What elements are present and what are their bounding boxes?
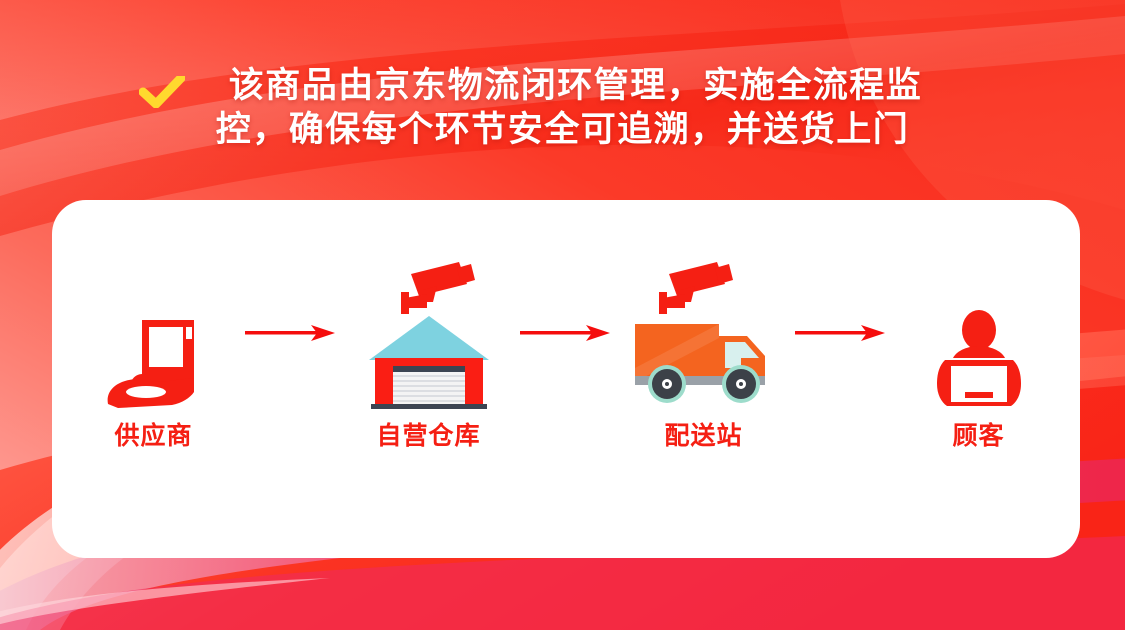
- cctv-camera-icon: [401, 262, 475, 314]
- warehouse-icon: [367, 258, 491, 410]
- hand-holding-box-icon: [102, 318, 206, 410]
- flow-node-supplier: 供应商: [69, 255, 239, 449]
- arrow-right-icon: [520, 322, 612, 344]
- headline-line-2: 控，确保每个环节安全可追溯，并送货上门: [0, 108, 1125, 152]
- flow-node-delivery-station: 配送站: [619, 255, 789, 449]
- flow-node-warehouse-label: 自营仓库: [376, 424, 480, 449]
- flow-arrow-3: [789, 255, 894, 410]
- flow-node-delivery-station-art: [629, 255, 779, 410]
- flow-node-customer-art: [931, 255, 1027, 410]
- flow-arrow-1: [239, 255, 344, 410]
- promo-banner: 该商品由京东物流闭环管理，实施全流程监 控，确保每个环节安全可追溯，并送货上门: [0, 0, 1125, 630]
- headline-block: 该商品由京东物流闭环管理，实施全流程监 控，确保每个环节安全可追溯，并送货上门: [0, 64, 1125, 152]
- headline-text-2: 控，确保每个环节安全可追溯，并送货上门: [216, 110, 910, 149]
- flow-node-delivery-station-label: 配送站: [664, 424, 742, 449]
- arrow-right-icon: [795, 322, 887, 344]
- flow-arrow-2: [514, 255, 619, 410]
- headline-line-1: 该商品由京东物流闭环管理，实施全流程监: [0, 64, 1125, 108]
- flow-node-supplier-art: [102, 255, 206, 410]
- cctv-camera-icon: [659, 262, 733, 314]
- headline-text-1: 该商品由京东物流闭环管理，实施全流程监: [229, 66, 923, 105]
- flow-node-customer: 顾客: [894, 255, 1064, 449]
- customer-with-package-icon: [931, 308, 1027, 410]
- arrow-right-icon: [245, 322, 337, 344]
- flow-node-warehouse-art: [367, 255, 491, 410]
- flow-node-customer-label: 顾客: [952, 424, 1004, 449]
- logistics-flow-diagram: 供应商: [52, 200, 1080, 558]
- flow-node-supplier-label: 供应商: [114, 424, 192, 449]
- check-icon: [139, 76, 185, 108]
- flow-node-warehouse: 自营仓库: [344, 255, 514, 449]
- delivery-truck-icon: [629, 258, 779, 410]
